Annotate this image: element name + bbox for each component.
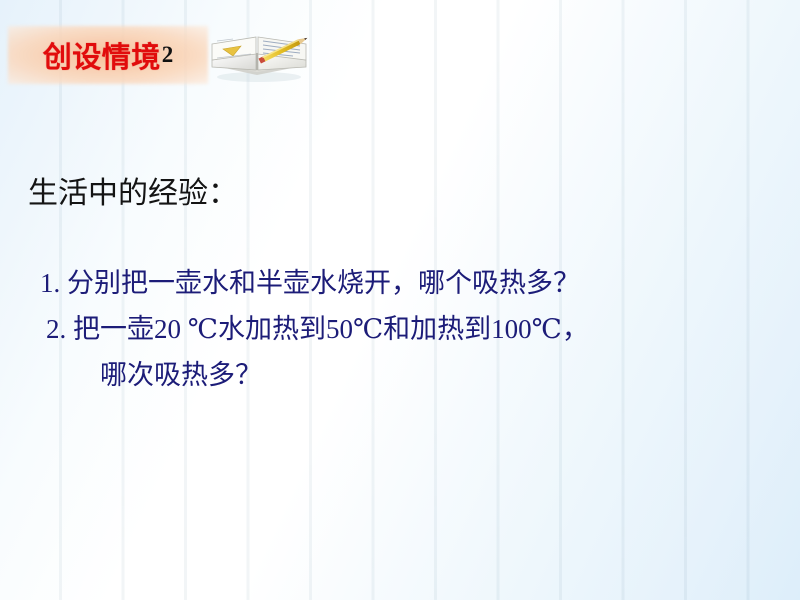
slide-title-number: 2	[162, 42, 174, 68]
question-2-line-1: 2. 把一壶20 ℃水加热到50℃和加热到100℃，	[40, 306, 770, 352]
title-banner: 创设情境 2	[8, 26, 208, 84]
question-2-line-2: 哪次吸热多？	[40, 352, 770, 398]
open-book-with-pencil-icon	[203, 27, 315, 85]
question-1-line-1: 1. 分别把一壶水和半壶水烧开，哪个吸热多？	[40, 260, 770, 306]
slide-title: 创设情境	[43, 34, 161, 76]
question-list: 1. 分别把一壶水和半壶水烧开，哪个吸热多？ 2. 把一壶20 ℃水加热到50℃…	[40, 260, 770, 398]
page-heading: 生活中的经验：	[28, 168, 238, 212]
title-text-wrapper: 创设情境 2	[8, 26, 208, 84]
slide-canvas: 创设情境 2	[0, 0, 800, 600]
